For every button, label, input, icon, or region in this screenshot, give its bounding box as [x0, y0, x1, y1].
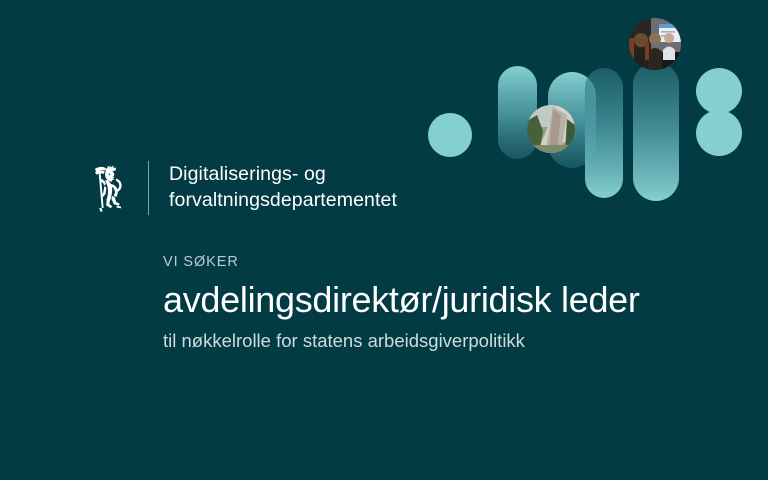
ministry-logo-block: Digitaliserings- og forvaltningsdepartem…: [88, 160, 397, 216]
job-posting-text: VI SØKER avdelingsdirektør/juridisk lede…: [163, 254, 723, 352]
decorative-soundwave-graphic: [420, 0, 768, 215]
logo-divider: [148, 161, 149, 215]
job-eyebrow-label: VI SØKER: [163, 254, 723, 271]
photo-meeting: [629, 18, 681, 70]
circle-solid-3: [696, 110, 742, 156]
norwegian-coat-of-arms-lion-icon: [88, 160, 130, 216]
photo-architecture: [527, 105, 575, 153]
job-ad-banner: Digitaliserings- og forvaltningsdepartem…: [0, 0, 768, 480]
circle-solid-1: [428, 113, 472, 157]
job-title: avdelingsdirektør/juridisk leder: [163, 280, 723, 320]
ministry-name: Digitaliserings- og forvaltningsdepartem…: [169, 162, 397, 214]
circle-solid-2: [696, 68, 742, 114]
photo-architecture-image: [527, 105, 575, 153]
job-subtitle: til nøkkelrolle for statens arbeidsgiver…: [163, 329, 723, 352]
pill-gradient-up-1: [585, 68, 623, 198]
soundwave-shapes: [420, 0, 768, 215]
photo-meeting-image: [629, 18, 681, 70]
pill-gradient-down-1: [498, 66, 537, 159]
pill-gradient-up-2: [633, 62, 679, 201]
